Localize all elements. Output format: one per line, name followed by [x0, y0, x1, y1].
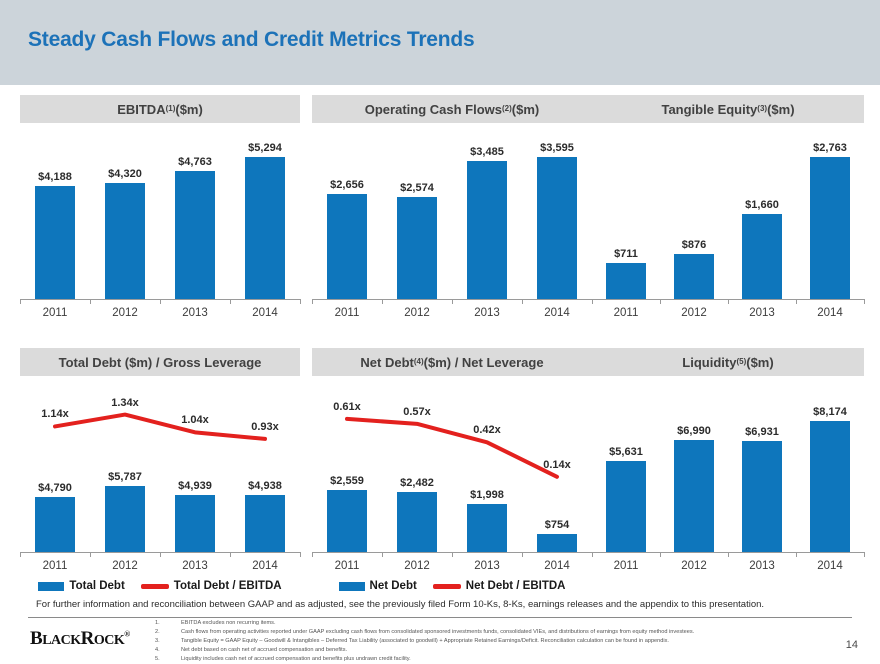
x-axis-labels: 2011201220132014	[20, 560, 300, 572]
x-axis-tick-label: 2011	[592, 560, 660, 572]
footnote-text: Cash flows from operating activities rep…	[181, 628, 694, 637]
bar-series-tangible-equity: $711$876$1,660$2,763	[592, 135, 864, 299]
chart-panel-ebitda: EBITDA(1) ($m)$4,188$4,320$4,763$5,29420…	[20, 95, 300, 341]
x-axis-tick	[660, 299, 661, 304]
x-axis-tick	[312, 552, 313, 557]
registered-trademark-icon: ®	[124, 630, 129, 639]
x-axis-tick	[160, 299, 161, 304]
bar-rect	[327, 490, 368, 552]
bar-group: $2,763	[796, 135, 864, 299]
bar-series-total-debt: $4,790$5,787$4,939$4,938	[20, 444, 300, 552]
bar-rect	[537, 157, 578, 299]
x-axis-tick	[230, 552, 231, 557]
x-axis-tick	[20, 552, 21, 557]
legend-line-swatch-icon	[141, 584, 169, 589]
x-axis-tick	[312, 299, 313, 304]
x-axis-labels: 2011201220132014	[592, 307, 864, 319]
chart-title-tangible-equity: Tangible Equity(3) ($m)	[592, 95, 864, 123]
chart-title-text: Net Debt	[360, 355, 413, 370]
footnote-text: Tangible Equity = GAAP Equity – Goodwill…	[181, 637, 669, 646]
bar-rect	[606, 461, 645, 552]
bar-group: $1,998	[452, 444, 522, 552]
x-axis-tick	[728, 552, 729, 557]
x-axis-tick-label: 2014	[522, 307, 592, 319]
bar-group: $4,790	[20, 444, 90, 552]
legend-bar-swatch-icon	[339, 582, 365, 591]
bar-value-label: $2,482	[400, 477, 434, 489]
blackrock-logo: BLACKROCK®	[30, 628, 130, 650]
x-axis-tick-label: 2014	[230, 560, 300, 572]
legend-item: Net Debt	[339, 580, 417, 592]
bar-group: $2,482	[382, 444, 452, 552]
chart-legend-net-debt: Net DebtNet Debt / EBITDA	[312, 580, 592, 592]
x-axis-tick	[230, 299, 231, 304]
x-axis-tick-label: 2012	[660, 560, 728, 572]
x-axis-labels: 2011201220132014	[312, 307, 592, 319]
x-axis-tick-label: 2011	[312, 307, 382, 319]
x-axis-tick	[452, 552, 453, 557]
chart-panel-total-debt: Total Debt ($m) / Gross Leverage$4,790$5…	[20, 348, 300, 594]
x-axis-tick-label: 2014	[522, 560, 592, 572]
x-axis-tick	[796, 299, 797, 304]
bar-value-label: $1,660	[745, 199, 779, 211]
x-axis-tick	[592, 552, 593, 557]
bar-series-operating-cash-flows: $2,656$2,574$3,485$3,595	[312, 135, 592, 299]
bar-rect	[467, 161, 508, 299]
bar-series-ebitda: $4,188$4,320$4,763$5,294	[20, 135, 300, 299]
bar-value-label: $3,595	[540, 142, 574, 154]
x-axis-tick	[864, 299, 865, 304]
x-axis-tick	[452, 299, 453, 304]
x-axis-labels: 2011201220132014	[20, 307, 300, 319]
bar-rect	[810, 421, 849, 552]
plot-area-liquidity: $5,631$6,990$6,931$8,1742011201220132014	[592, 382, 864, 594]
leverage-ratio-label: 1.34x	[111, 397, 139, 409]
bar-rect	[467, 504, 508, 552]
bar-value-label: $3,485	[470, 146, 504, 158]
plot-area-total-debt: $4,790$5,787$4,939$4,9381.14x1.34x1.04x0…	[20, 382, 300, 594]
bar-group: $6,990	[660, 388, 728, 552]
x-axis-tick-label: 2012	[90, 560, 160, 572]
footnote-item: 3.Tangible Equity = GAAP Equity – Goodwi…	[155, 637, 855, 646]
x-axis-tick-label: 2011	[20, 560, 90, 572]
bar-group: $2,574	[382, 135, 452, 299]
leverage-ratio-label: 0.57x	[403, 406, 431, 418]
bar-value-label: $6,931	[745, 426, 779, 438]
bar-group: $876	[660, 135, 728, 299]
x-axis-tick	[90, 299, 91, 304]
bar-rect	[537, 534, 578, 552]
chart-legend-total-debt: Total DebtTotal Debt / EBITDA	[20, 580, 300, 592]
bar-value-label: $2,559	[330, 475, 364, 487]
footnote-text: EBITDA excludes non recurring items.	[181, 619, 276, 628]
chart-title-suffix: ($m)	[512, 102, 539, 117]
bar-value-label: $8,174	[813, 406, 847, 418]
chart-panel-liquidity: Liquidity(5) ($m)$5,631$6,990$6,931$8,17…	[592, 348, 864, 594]
bar-value-label: $754	[545, 519, 569, 531]
legend-bar-swatch-icon	[38, 582, 64, 591]
bar-value-label: $6,990	[677, 425, 711, 437]
footnote-item: 4.Net debt based on cash net of accrued …	[155, 646, 855, 655]
x-axis-tick	[160, 552, 161, 557]
bar-value-label: $1,998	[470, 489, 504, 501]
bar-group: $4,188	[20, 135, 90, 299]
bar-rect	[245, 157, 286, 299]
legend-item: Total Debt	[38, 580, 124, 592]
bar-group: $6,931	[728, 388, 796, 552]
brand-r: R	[81, 628, 94, 649]
bar-rect	[397, 197, 438, 299]
x-axis-tick	[300, 299, 301, 304]
bar-group: $1,660	[728, 135, 796, 299]
leverage-ratio-label: 0.61x	[333, 401, 361, 413]
bar-value-label: $2,656	[330, 179, 364, 191]
leverage-ratio-label: 0.93x	[251, 421, 279, 433]
chart-title-text: Operating Cash Flows	[365, 102, 502, 117]
chart-title-suffix: ($m) / Net Leverage	[424, 355, 544, 370]
page-number: 14	[846, 639, 858, 651]
bar-series-liquidity: $5,631$6,990$6,931$8,174	[592, 388, 864, 552]
leverage-ratio-label: 0.42x	[473, 424, 501, 436]
legend-line-swatch-icon	[433, 584, 461, 589]
x-axis-tick	[300, 552, 301, 557]
bar-value-label: $4,188	[38, 171, 72, 183]
x-axis-tick	[382, 552, 383, 557]
chart-title-suffix: ($m)	[746, 355, 773, 370]
brand-ock: OCK	[94, 633, 124, 648]
x-axis-tick-label: 2012	[382, 307, 452, 319]
plot-area-tangible-equity: $711$876$1,660$2,7632011201220132014	[592, 129, 864, 341]
bar-group: $4,939	[160, 444, 230, 552]
legend-label: Total Debt	[69, 580, 124, 592]
bar-rect	[810, 157, 849, 299]
x-axis-tick	[90, 552, 91, 557]
chart-title-suffix: ($m)	[767, 102, 794, 117]
footnote-number: 1.	[155, 619, 181, 628]
footnote-item: 1.EBITDA excludes non recurring items.	[155, 619, 855, 628]
bar-rect	[742, 214, 781, 299]
x-axis-tick	[382, 299, 383, 304]
bar-group: $3,485	[452, 135, 522, 299]
x-axis-tick	[728, 299, 729, 304]
bar-rect	[105, 486, 146, 552]
footnote-item: 2.Cash flows from operating activities r…	[155, 628, 855, 637]
footnote-number: 2.	[155, 628, 181, 637]
chart-title-text: EBITDA	[117, 102, 165, 117]
bar-group: $711	[592, 135, 660, 299]
bar-rect	[35, 497, 76, 552]
bar-rect	[175, 495, 216, 552]
bar-value-label: $5,294	[248, 142, 282, 154]
x-axis-tick	[20, 299, 21, 304]
leverage-ratio-label: 0.14x	[543, 459, 571, 471]
footnote-text: Net debt based on cash net of accrued co…	[181, 646, 347, 655]
footer-disclaimer: For further information and reconciliati…	[36, 599, 764, 610]
bar-value-label: $876	[682, 239, 706, 251]
bar-rect	[35, 186, 76, 299]
x-axis-tick-label: 2014	[796, 307, 864, 319]
bar-value-label: $4,763	[178, 156, 212, 168]
x-axis-tick-label: 2011	[592, 307, 660, 319]
bar-group: $4,938	[230, 444, 300, 552]
legend-label: Net Debt / EBITDA	[466, 580, 566, 592]
bar-rect	[674, 440, 713, 552]
x-axis-tick-label: 2012	[660, 307, 728, 319]
chart-title-liquidity: Liquidity(5) ($m)	[592, 348, 864, 376]
x-axis-tick-label: 2013	[452, 307, 522, 319]
bar-group: $5,631	[592, 388, 660, 552]
bar-group: $8,174	[796, 388, 864, 552]
chart-title-total-debt: Total Debt ($m) / Gross Leverage	[20, 348, 300, 376]
legend-item: Net Debt / EBITDA	[433, 580, 566, 592]
bar-rect	[327, 194, 368, 299]
footnote-number: 4.	[155, 646, 181, 655]
bar-value-label: $711	[614, 248, 638, 260]
plot-area-operating-cash-flows: $2,656$2,574$3,485$3,5952011201220132014	[312, 129, 592, 341]
x-axis-tick-label: 2013	[728, 560, 796, 572]
chart-title-text: Total Debt ($m) / Gross Leverage	[59, 355, 262, 370]
chart-title-ebitda: EBITDA(1) ($m)	[20, 95, 300, 123]
bar-rect	[105, 183, 146, 299]
x-axis-tick-label: 2012	[90, 307, 160, 319]
x-axis-labels: 2011201220132014	[312, 560, 592, 572]
bar-rect	[606, 263, 645, 299]
bar-rect	[742, 441, 781, 552]
bar-group: $2,656	[312, 135, 382, 299]
brand-lack: LACK	[42, 633, 80, 648]
x-axis-tick	[592, 299, 593, 304]
leverage-ratio-label: 1.04x	[181, 414, 209, 426]
bar-rect	[674, 254, 713, 299]
bar-value-label: $5,631	[609, 446, 643, 458]
x-axis-tick	[522, 552, 523, 557]
bar-value-label: $4,790	[38, 482, 72, 494]
footer-divider	[28, 617, 852, 618]
chart-title-text: Liquidity	[682, 355, 736, 370]
bar-group: $3,595	[522, 135, 592, 299]
bar-value-label: $5,787	[108, 471, 142, 483]
x-axis-tick-label: 2014	[796, 560, 864, 572]
bar-value-label: $4,320	[108, 168, 142, 180]
bar-rect	[245, 495, 286, 552]
footnote-list: 1.EBITDA excludes non recurring items.2.…	[155, 619, 855, 664]
bar-value-label: $4,938	[248, 480, 282, 492]
x-axis-tick-label: 2011	[312, 560, 382, 572]
chart-panel-net-debt: Net Debt(4) ($m) / Net Leverage$2,559$2,…	[312, 348, 592, 594]
bar-rect	[397, 492, 438, 552]
bar-group: $4,320	[90, 135, 160, 299]
x-axis-tick-label: 2013	[160, 307, 230, 319]
x-axis-tick	[522, 299, 523, 304]
x-axis-labels: 2011201220132014	[592, 560, 864, 572]
slide-header-band: Steady Cash Flows and Credit Metrics Tre…	[0, 0, 880, 85]
bar-group: $5,294	[230, 135, 300, 299]
bar-rect	[175, 171, 216, 299]
x-axis-tick-label: 2013	[160, 560, 230, 572]
bar-value-label: $2,574	[400, 182, 434, 194]
legend-item: Total Debt / EBITDA	[141, 580, 282, 592]
footnote-number: 3.	[155, 637, 181, 646]
leverage-ratio-label: 1.14x	[41, 408, 69, 420]
bar-group: $4,763	[160, 135, 230, 299]
bar-group: $2,559	[312, 444, 382, 552]
chart-panel-operating-cash-flows: Operating Cash Flows(2) ($m)$2,656$2,574…	[312, 95, 592, 341]
charts-area: EBITDA(1) ($m)$4,188$4,320$4,763$5,29420…	[0, 85, 880, 595]
brand-b: B	[30, 628, 42, 649]
x-axis-tick	[864, 552, 865, 557]
x-axis-tick	[660, 552, 661, 557]
x-axis-tick	[796, 552, 797, 557]
chart-title-suffix: ($m)	[175, 102, 202, 117]
page-title: Steady Cash Flows and Credit Metrics Tre…	[28, 28, 475, 52]
chart-title-text: Tangible Equity	[661, 102, 757, 117]
chart-title-operating-cash-flows: Operating Cash Flows(2) ($m)	[312, 95, 592, 123]
chart-panel-tangible-equity: Tangible Equity(3) ($m)$711$876$1,660$2,…	[592, 95, 864, 341]
plot-area-ebitda: $4,188$4,320$4,763$5,2942011201220132014	[20, 129, 300, 341]
bar-group: $5,787	[90, 444, 160, 552]
x-axis-tick-label: 2013	[728, 307, 796, 319]
x-axis-tick-label: 2012	[382, 560, 452, 572]
bar-value-label: $4,939	[178, 480, 212, 492]
x-axis-tick-label: 2014	[230, 307, 300, 319]
legend-label: Net Debt	[370, 580, 417, 592]
x-axis-tick-label: 2013	[452, 560, 522, 572]
chart-title-net-debt: Net Debt(4) ($m) / Net Leverage	[312, 348, 592, 376]
bar-value-label: $2,763	[813, 142, 847, 154]
plot-area-net-debt: $2,559$2,482$1,998$7540.61x0.57x0.42x0.1…	[312, 382, 592, 594]
legend-label: Total Debt / EBITDA	[174, 580, 282, 592]
x-axis-tick-label: 2011	[20, 307, 90, 319]
